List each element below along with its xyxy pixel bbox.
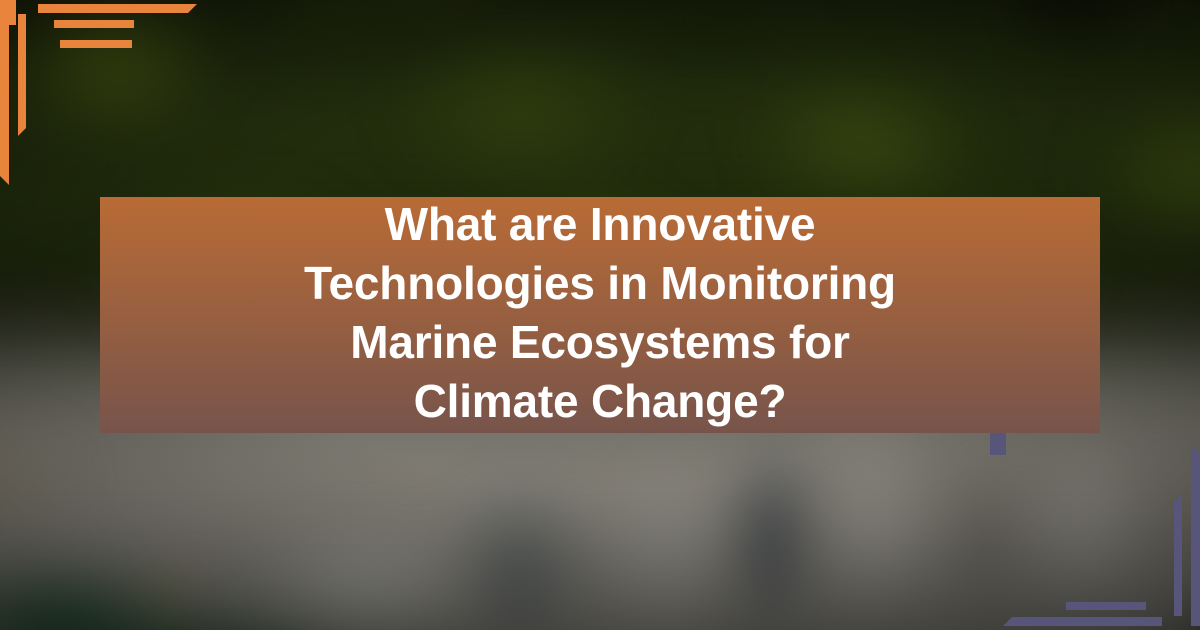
ornament-bar-horizontal-short bbox=[54, 20, 134, 28]
title-banner: What are Innovative Technologies in Moni… bbox=[100, 197, 1100, 433]
corner-ornament-top-left bbox=[0, 0, 210, 200]
corner-ornament-bottom-right bbox=[990, 430, 1200, 630]
ornament-bar-horizontal-short bbox=[1066, 602, 1146, 610]
share-card: What are Innovative Technologies in Moni… bbox=[0, 0, 1200, 630]
ornament-bar-vertical-long bbox=[0, 4, 9, 185]
ornament-bar-vertical-short bbox=[1174, 494, 1182, 616]
ornament-bar-vertical-long bbox=[1191, 445, 1200, 626]
ornament-bar-horizontal-long bbox=[1003, 617, 1162, 626]
ornament-bar-horizontal-long bbox=[38, 4, 197, 13]
ornament-bar-vertical-short bbox=[18, 14, 26, 136]
ornament-bar-horizontal-mid bbox=[60, 40, 132, 48]
page-title: What are Innovative Technologies in Moni… bbox=[280, 195, 920, 431]
